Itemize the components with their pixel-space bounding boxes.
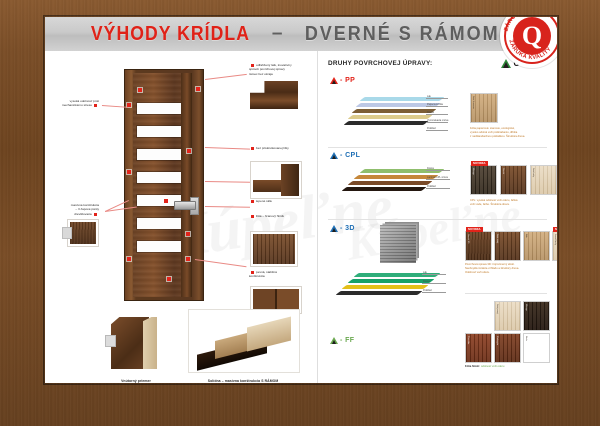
swatch-name: Mahagón <box>496 336 498 345</box>
av-triangle-icon <box>330 225 338 232</box>
description-ff-label: Fólia finish: <box>465 365 480 368</box>
divider <box>328 219 547 220</box>
thumb-corner-detail <box>250 161 302 199</box>
left-panel: vysoká odolnosť proti mechanickému stres… <box>45 51 317 383</box>
layer-label: Papierová fólia <box>427 103 443 106</box>
layer-doska <box>351 109 436 113</box>
door-stile-right <box>181 73 192 297</box>
callout-dot <box>186 232 190 236</box>
swatch-3d-4[interactable]: NOVINKA Jaseň biely <box>552 231 557 261</box>
bullet-dot <box>251 271 254 274</box>
joint-detail-image <box>253 289 299 311</box>
swatch-name: Jaseň biely <box>554 234 556 245</box>
bullet-dot <box>251 200 254 203</box>
door-photo <box>124 69 204 301</box>
layer-label: Doska <box>427 167 434 170</box>
swatch-3d-2[interactable]: Dub zlatý <box>494 231 521 261</box>
bullet-dot <box>251 215 254 218</box>
swatch-cpl-1[interactable]: NOVINKA Wenge <box>470 165 497 195</box>
bullet-dot <box>251 147 254 150</box>
frame-profile-image <box>250 81 298 109</box>
swatch-name: Dub zlatý <box>496 234 498 243</box>
swatch-cpl-2[interactable]: Orech <box>500 165 527 195</box>
caption-inner-profile: Vnútorný priemer <box>97 379 175 383</box>
group-label-ff: - FF <box>330 337 354 344</box>
page-title-red: VÝHODY KRÍDLA <box>91 23 250 46</box>
layer-label: Doska <box>427 111 434 114</box>
thumb-frame-profile <box>250 81 298 109</box>
label-mechanical-resistance: vysoká odolnosť proti mechanickému stres… <box>47 99 99 108</box>
swatch-name: Dub Sonoma <box>472 96 474 109</box>
callout-dot <box>167 277 171 281</box>
leader-line <box>205 74 247 80</box>
texture-block-3d <box>380 225 416 263</box>
label-solid-construction: pevná, stabilná konštrukcia <box>249 270 311 279</box>
swatch-pp-1[interactable]: Dub Sonoma <box>470 93 498 123</box>
caption-frame-construction: Solídna – masívna konštrukcia S RÁMOM <box>178 379 308 383</box>
leader-line <box>205 181 250 183</box>
header-title-group: VÝHODY KRÍDLA – DVERNÉ S RÁMOM <box>80 23 510 46</box>
swatch-3d-3[interactable]: Buk <box>523 231 550 261</box>
bullet-dot <box>94 213 97 216</box>
group-code-ff: - FF <box>340 337 354 344</box>
swatch-name: Dub jasný <box>496 304 498 314</box>
leader-line <box>205 147 250 150</box>
bullet-dot <box>94 104 97 107</box>
page-title-grey: DVERNÉ S RÁMOM <box>304 23 499 46</box>
group-code-cpl: - CPL <box>340 152 360 159</box>
quality-seal: ZÁRUKA KVALITY ZÁRUKA KVALITY Q <box>500 17 557 68</box>
layer-diagram-3d <box>336 273 436 303</box>
label-glued-glass: lepené sklá <box>249 199 311 203</box>
description-cpl: CPL: vysoká odolnosť voči oderu, ľahká v… <box>470 199 557 207</box>
label-no-screwed-strip: bez priskrutkovanej lišty <box>249 146 311 150</box>
callout-dot <box>127 170 131 174</box>
swatch-badge: NOVINKA <box>466 227 483 232</box>
layer-label: Podklad <box>423 289 432 292</box>
swatch-badge: NOVINKA <box>553 227 557 232</box>
layer-podklad <box>335 291 422 295</box>
photo-inner-profile <box>105 313 165 373</box>
description-pp: Fólia papierová: stanovie, ecologické, v… <box>470 127 557 139</box>
layer-label: Podklad <box>427 185 436 188</box>
layer-base <box>341 187 426 191</box>
description-3d: Povrchová úprava 3D: trojrozmerný efekt.… <box>465 263 557 275</box>
swatch-name: Buk <box>525 234 527 238</box>
callout-dot <box>186 257 190 261</box>
layer-label: Podklad <box>427 127 436 130</box>
photo-frame-construction <box>188 309 300 373</box>
swatch-ff-2[interactable]: Wenge <box>523 301 550 331</box>
section-title-surface-types: DRUHY POVRCHOVEJ ÚPRAVY: <box>328 60 432 67</box>
seal-disc: Q <box>513 17 551 55</box>
corner-detail-image <box>253 164 299 196</box>
swatch-name: Orech <box>502 168 504 174</box>
swatch-name: Biela <box>525 336 527 341</box>
av-triangle-icon <box>330 77 338 84</box>
group-label-pp: - PP <box>330 77 355 84</box>
swatch-name: Wenge <box>525 304 527 311</box>
swatch-cpl-3[interactable]: Dub biely <box>530 165 557 195</box>
poster-board: VÝHODY KRÍDLA – DVERNÉ S RÁMOM Kúpeľne K… <box>45 17 557 383</box>
av-triangle-icon <box>330 152 338 159</box>
callout-dot <box>196 87 200 91</box>
label-lightweight-surface: odľahčený latk, inovatívny spôsob povrch… <box>249 63 311 76</box>
door-leaf <box>133 73 192 297</box>
label-aluminium-edge: lišta – hranový hliník <box>249 214 311 218</box>
thumb-edge-detail <box>250 231 298 267</box>
bullet-dot <box>251 64 254 67</box>
swatch-ff-1[interactable]: Dub jasný <box>494 301 521 331</box>
poster-root: VÝHODY KRÍDLA – DVERNÉ S RÁMOM Kúpeľne K… <box>0 0 600 426</box>
swatch-name: Wenge <box>472 168 474 175</box>
divider <box>328 147 547 148</box>
callout-dot <box>138 88 142 92</box>
door-handle <box>174 201 196 210</box>
layer-diagram-cpl <box>342 169 442 199</box>
swatch-name: Orech 3D <box>467 234 469 243</box>
description-ff: Fólia finish: odolnosť voči oderu <box>465 365 557 369</box>
right-panel: DRUHY POVRCHOVEJ ÚPRAVY: OSTER ® - PP <box>317 51 557 383</box>
label-massive-construction: masívna konštrukcia – 3 čapové pánty dre… <box>47 203 99 216</box>
frame-construction-image <box>191 312 297 370</box>
group-label-cpl: - CPL <box>330 152 360 159</box>
group-code-3d: - 3D <box>340 225 355 232</box>
swatch-badge: NOVINKA <box>471 161 488 166</box>
callout-dot <box>127 257 131 261</box>
group-label-3d: - 3D <box>330 225 355 232</box>
layer-vyrovnavacia <box>347 115 432 119</box>
divider <box>465 293 547 294</box>
swatch-name: Dub biely <box>532 168 534 177</box>
layer-label: Doska <box>423 280 430 283</box>
seal-letter: Q <box>522 23 542 49</box>
swatch-ff-5[interactable]: Biela <box>523 333 550 363</box>
title-dash: – <box>272 23 283 45</box>
layer-stred <box>341 285 428 289</box>
layer-label: Laminát CPL vrstva <box>427 176 448 179</box>
group-code-pp: - PP <box>340 77 355 84</box>
layer-podklad <box>347 181 432 185</box>
leader-line <box>205 206 250 208</box>
callout-dot <box>187 149 191 153</box>
wood-sample-image <box>70 222 96 244</box>
layer-podklad <box>343 121 428 125</box>
poster-header: VÝHODY KRÍDLA – DVERNÉ S RÁMOM <box>45 17 557 51</box>
layer-label: Vyrovnávacia vrstva <box>427 119 448 122</box>
swatch-3d-1[interactable]: NOVINKA Orech 3D <box>465 231 492 261</box>
swatch-ff-3[interactable]: Čerešňa <box>465 333 492 363</box>
callout-dot <box>164 199 168 203</box>
layer-label: Lak <box>423 271 427 274</box>
swatch-name: Čerešňa <box>467 336 469 344</box>
swatch-ff-4[interactable]: Mahagón <box>494 333 521 363</box>
hinge-plate <box>62 227 72 239</box>
description-ff-text: odolnosť voči oderu <box>481 365 505 368</box>
av-triangle-icon <box>330 337 338 344</box>
edge-detail-image <box>253 234 295 264</box>
layer-label: Lak <box>427 95 431 98</box>
